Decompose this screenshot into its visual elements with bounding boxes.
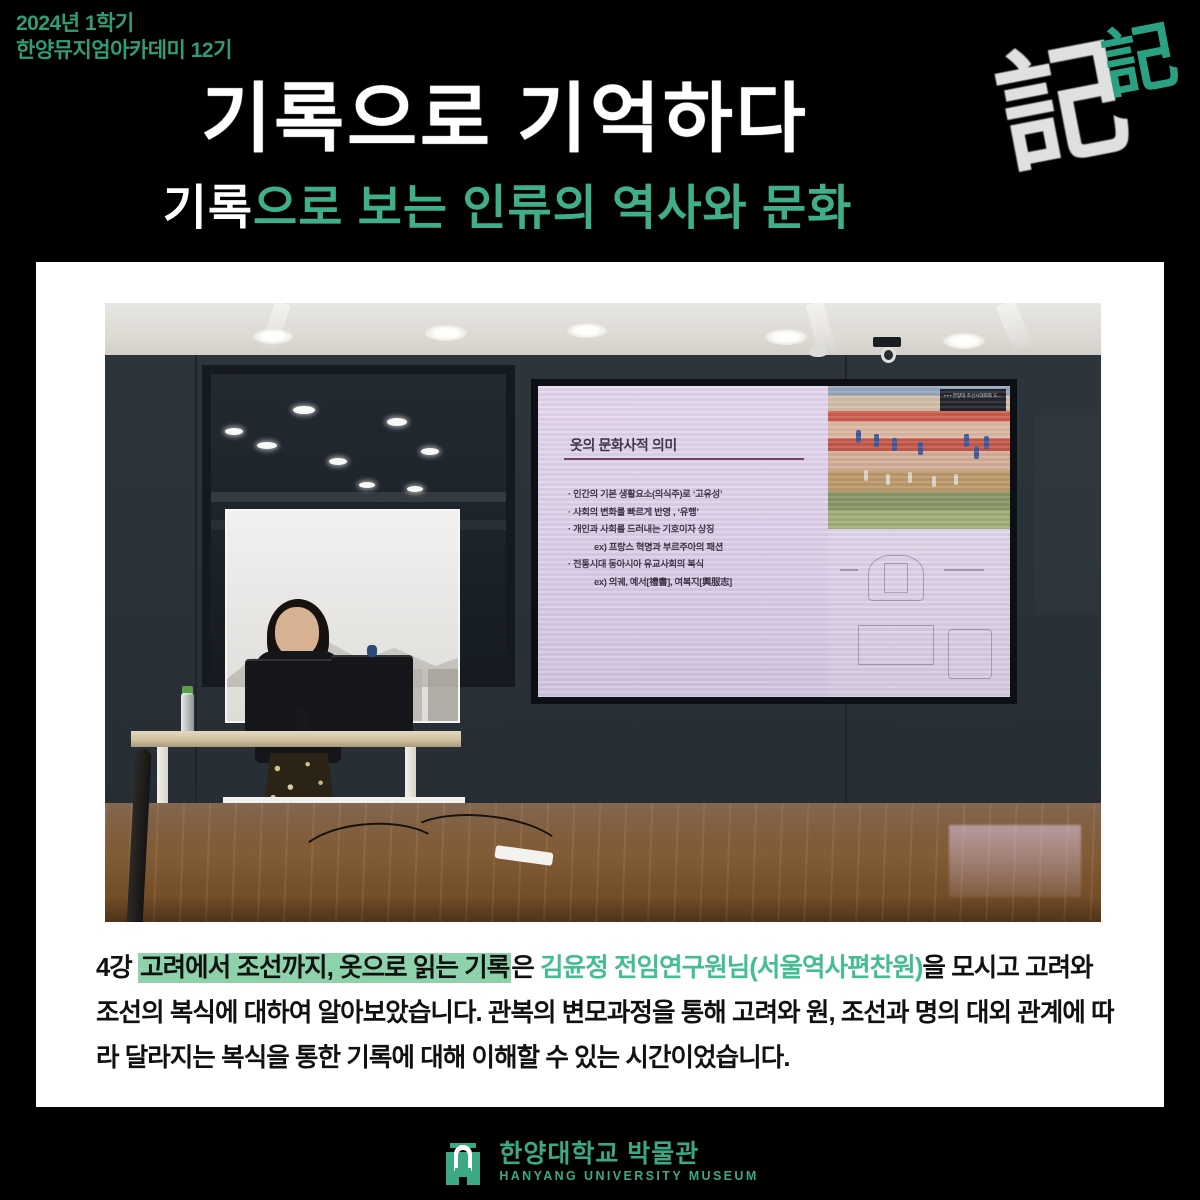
museum-name-en: HANYANG UNIVERSITY MUSEUM [499, 1167, 758, 1186]
podium-desk [131, 731, 461, 747]
page-subtitle: 기록으로 보는 인류의 역사와 문화 [0, 185, 1015, 233]
reflected-light [293, 406, 315, 414]
page-title: 기록으로 기억하다 [0, 82, 1010, 158]
ceiling-light-icon [943, 333, 985, 349]
podium-monitor-secondary [331, 655, 413, 733]
poster-header: 2024년 1학기 한양뮤지엄아카데미 12기 기록으로 기억하다 기록으로 보… [0, 0, 1200, 262]
caption-paragraph: 4강 고려에서 조선까지, 옷으로 읽는 기록은 김윤정 전임연구원님(서울역사… [96, 946, 1116, 1081]
floor [105, 803, 1101, 922]
slide-example: ex) 프랑스 혁명과 부르주아의 패션 [568, 539, 818, 557]
caption-speaker: 김윤정 전임연구원님(서울역사편찬원) [540, 954, 922, 982]
lecture-photo: 옷의 문화사적 의미 인간의 기본 생활요소(의식주)로 ‘고유성’ 사회의 변… [105, 303, 1101, 922]
slide-bullet: 전통시대 동아시아 유교사회의 복식 [568, 556, 818, 574]
museum-name-ko: 한양대학교 박물관 [499, 1141, 758, 1167]
museum-building-icon [441, 1141, 485, 1187]
monitor-stand [297, 707, 309, 733]
projected-slide-bezel: 옷의 문화사적 의미 인간의 기본 생활요소(의식주)로 ‘고유성’ 사회의 변… [531, 379, 1017, 704]
ceiling-projector-icon [873, 337, 901, 347]
slide-bullet: 인간의 기본 생활요소(의식주)로 ‘고유성’ [568, 486, 818, 504]
footer: 한양대학교 박물관 HANYANG UNIVERSITY MUSEUM [0, 1127, 1200, 1200]
slide-title-rule [564, 458, 804, 460]
ceiling-light-icon [567, 323, 607, 338]
projected-slide: 옷의 문화사적 의미 인간의 기본 생활요소(의식주)로 ‘고유성’ 사회의 변… [538, 386, 1010, 697]
slide-reflection [949, 825, 1081, 897]
reflected-light [421, 448, 439, 455]
wall-panel [1035, 415, 1099, 615]
reflected-light [257, 442, 277, 449]
reflection-band [211, 492, 506, 502]
reflected-light [387, 418, 407, 426]
reflected-light [407, 486, 423, 492]
podium-monitor [245, 659, 345, 733]
subtitle-teal-part: 으로 보는 인류의 역사와 문화 [253, 182, 852, 235]
slide-bullet: 사회의 변화를 빠르게 반영 , ‘유행’ [568, 504, 818, 522]
slide-sketch-image [828, 529, 1010, 697]
reflected-light [225, 428, 243, 435]
stamp-kanji-small-icon: 記 [1097, 18, 1184, 105]
slide-example: ex) 의궤, 예서[禮書], 여복지[輿服志] [568, 574, 818, 592]
reflected-light [359, 482, 375, 488]
subtitle-white-part: 기록 [163, 182, 253, 235]
caption-lead: 4강 [96, 954, 138, 982]
record-stamp-logo: 記 記 [995, 8, 1195, 208]
slide-title: 옷의 문화사적 의미 [570, 435, 677, 455]
reflected-light [329, 458, 347, 465]
ceiling-light-icon [425, 325, 467, 341]
ceiling-light-icon [765, 329, 807, 345]
caption-highlight-topic: 고려에서 조선까지, 옷으로 읽는 기록 [138, 953, 511, 983]
content-card: 옷의 문화사적 의미 인간의 기본 생활요소(의식주)로 ‘고유성’ 사회의 변… [36, 262, 1164, 1107]
caption-after-highlight: 은 [511, 954, 540, 982]
ceiling-dome-camera-icon [809, 345, 827, 357]
slide-painting-image: ▪ ▪ ▪ 한양대 조선시대회화 도... [828, 386, 1010, 541]
slide-media-player-bar: ▪ ▪ ▪ 한양대 조선시대회화 도... [940, 389, 1006, 411]
webcam-icon [367, 645, 377, 657]
museum-wordmark: 한양대학교 박물관 HANYANG UNIVERSITY MUSEUM [499, 1141, 758, 1186]
slide-bullet: 개인과 사회를 드러내는 기호이자 상징 [568, 521, 818, 539]
presenter-head [275, 607, 319, 657]
semester-kicker: 2024년 1학기 한양뮤지엄아카데미 12기 [16, 10, 232, 65]
slide-bullet-list: 인간의 기본 생활요소(의식주)로 ‘고유성’ 사회의 변화를 빠르게 반영 ,… [568, 486, 818, 591]
camera-lens-icon [881, 347, 896, 363]
